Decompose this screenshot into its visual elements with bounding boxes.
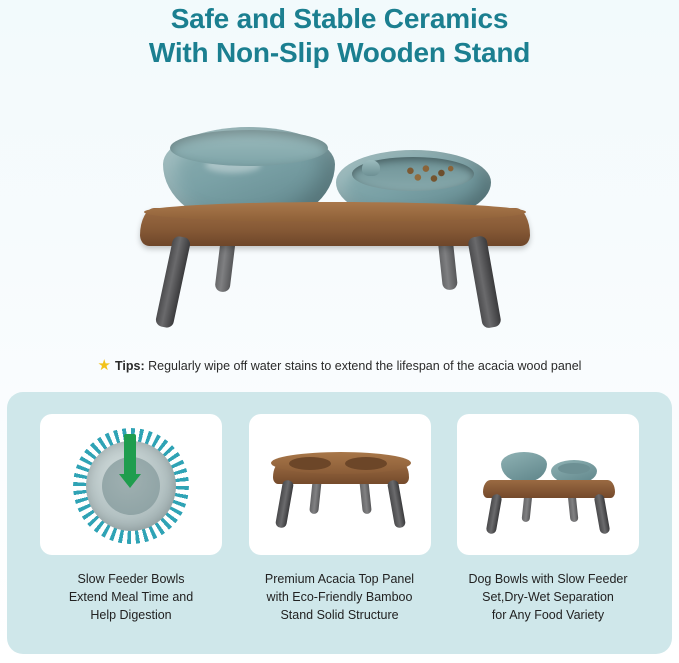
stand-leg-front-left: [274, 479, 293, 528]
page-title: Safe and Stable Ceramics With Non-Slip W…: [0, 2, 679, 70]
feature-card-list: [7, 414, 672, 555]
feature-card-bowl-set: [457, 414, 639, 555]
caption-line: Slow Feeder Bowls: [29, 570, 233, 588]
product-infographic: Safe and Stable Ceramics With Non-Slip W…: [0, 0, 679, 663]
bowl-cutout-left: [289, 457, 331, 470]
stand-leg-front-right: [594, 493, 611, 534]
stand-leg-front-right: [467, 235, 502, 329]
caption-line: Help Digestion: [29, 606, 233, 624]
caption-line: Stand Solid Structure: [238, 606, 442, 624]
star-icon: ★: [98, 357, 111, 374]
panel-top-surface: [144, 202, 526, 222]
down-arrow-icon: [124, 434, 136, 476]
headline-line-1: Safe and Stable Ceramics: [171, 3, 509, 34]
hero-product-photo: [0, 88, 679, 346]
dog-bowl-set-icon: [501, 452, 547, 482]
stand-leg-front-left: [155, 235, 192, 329]
caption-line: Extend Meal Time and: [29, 588, 233, 606]
feature-panel: Slow Feeder Bowls Extend Meal Time and H…: [7, 392, 672, 654]
caption-line: Premium Acacia Top Panel: [238, 570, 442, 588]
tips-line: ★Tips: Regularly wipe off water stains t…: [0, 356, 679, 374]
stand-leg-front-left: [486, 493, 503, 534]
feature-card-acacia-panel: [249, 414, 431, 555]
bowl-highlight: [205, 157, 261, 173]
dry-food: [398, 162, 460, 184]
bowl-cutout-right: [345, 457, 387, 470]
feature-caption-list: Slow Feeder Bowls Extend Meal Time and H…: [7, 570, 672, 624]
feature-caption-bowl-set: Dog Bowls with Slow Feeder Set,Dry-Wet S…: [446, 570, 650, 624]
feature-caption-acacia-panel: Premium Acacia Top Panel with Eco-Friend…: [238, 570, 442, 624]
elevated-bowl-stand: [140, 108, 540, 348]
feeder-post-icon: [362, 160, 380, 176]
caption-line: with Eco-Friendly Bamboo: [238, 588, 442, 606]
stand-leg-front-right: [386, 479, 405, 528]
feature-card-slow-feeder: [40, 414, 222, 555]
headline-line-2: With Non-Slip Wooden Stand: [0, 36, 679, 70]
tips-label: Tips:: [115, 359, 145, 373]
caption-line: Dog Bowls with Slow Feeder: [446, 570, 650, 588]
feature-caption-slow-feeder: Slow Feeder Bowls Extend Meal Time and H…: [29, 570, 233, 624]
caption-line: for Any Food Variety: [446, 606, 650, 624]
tips-text: Regularly wipe off water stains to exten…: [148, 359, 581, 373]
caption-line: Set,Dry-Wet Separation: [446, 588, 650, 606]
